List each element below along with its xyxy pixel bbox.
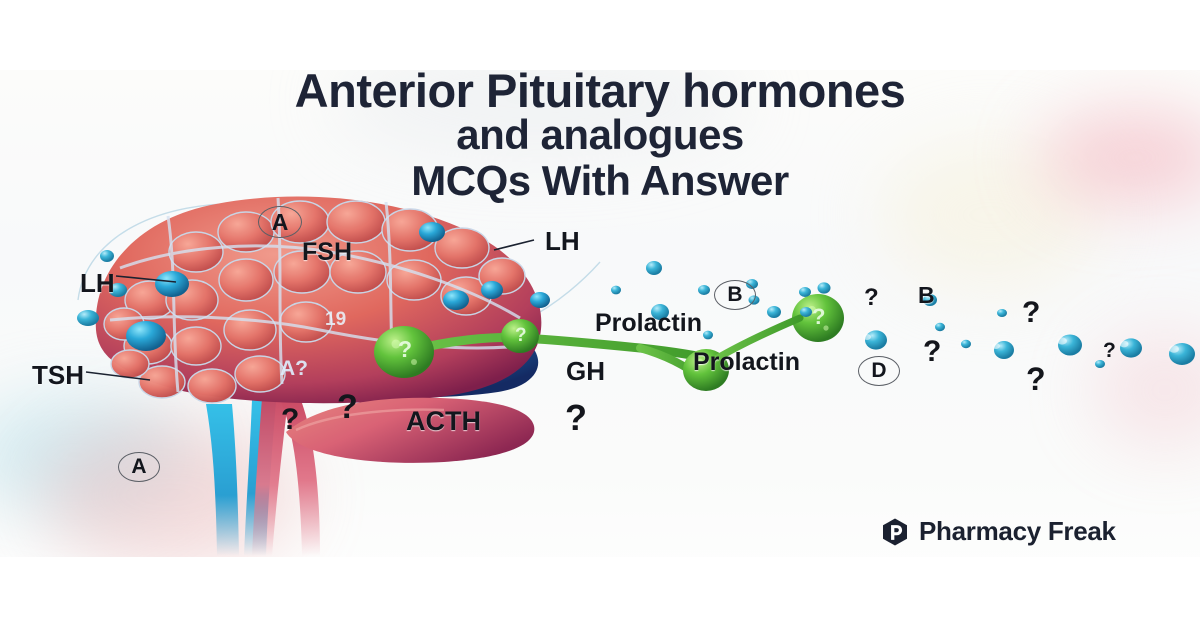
watermark: Pharmacy Freak	[880, 516, 1116, 547]
option-badge-b-letter: B	[727, 283, 742, 307]
vein-left	[206, 404, 239, 556]
question-mark-3: ?	[565, 400, 587, 436]
pharmacy-freak-logo-icon	[880, 517, 910, 547]
question-mark-2: ?	[337, 390, 358, 424]
page-title-line-2: and analogues	[0, 116, 1200, 154]
option-badge-a-bottom: A	[118, 452, 160, 482]
question-mark-8: ?	[1103, 340, 1116, 361]
vesicle-label-a-question: A?	[280, 358, 308, 379]
question-mark-1: ?	[281, 405, 299, 435]
page-title-line-1: Anterior Pituitary hormones	[0, 72, 1200, 110]
droplet-left-3	[100, 250, 114, 262]
infographic-canvas: FSH LH LH TSH ACTH GH Prolactin Prolacti…	[0, 0, 1200, 628]
page-title: Anterior Pituitary hormones and analogue…	[0, 72, 1200, 200]
page-title-line-3: MCQs With Answer	[0, 162, 1200, 200]
option-badge-a-bottom-letter: A	[131, 455, 146, 479]
watermark-brand-text: Pharmacy Freak	[919, 516, 1116, 547]
label-prolactin-2: Prolactin	[693, 350, 800, 375]
label-lh-left: LH	[80, 270, 115, 296]
label-prolactin-1: Prolactin	[595, 311, 702, 336]
label-gh: GH	[566, 358, 605, 384]
question-mark-7: ?	[1026, 363, 1046, 395]
option-badge-d: D	[858, 356, 900, 386]
label-acth: ACTH	[406, 408, 481, 435]
option-badge-a-top-letter: A	[272, 209, 289, 236]
option-badge-a-top: A	[258, 206, 302, 238]
vesicle-question-green-left: ?	[398, 338, 412, 361]
question-mark-5: ?	[923, 337, 941, 367]
vesicle-question-green-mid: ?	[515, 326, 527, 345]
label-tsh: TSH	[32, 362, 84, 388]
option-letter-b-plain: B	[918, 284, 935, 307]
question-mark-4: ?	[864, 286, 879, 310]
label-fsh: FSH	[302, 240, 352, 265]
label-lh-right: LH	[545, 228, 580, 254]
droplet-left-2	[77, 310, 99, 326]
question-mark-6: ?	[1022, 298, 1040, 328]
option-badge-b: B	[714, 280, 756, 310]
vesicle-question-blue-small: 19	[325, 310, 346, 329]
vesicle-question-green-right: ?	[812, 306, 825, 328]
option-badge-d-letter: D	[871, 359, 886, 383]
